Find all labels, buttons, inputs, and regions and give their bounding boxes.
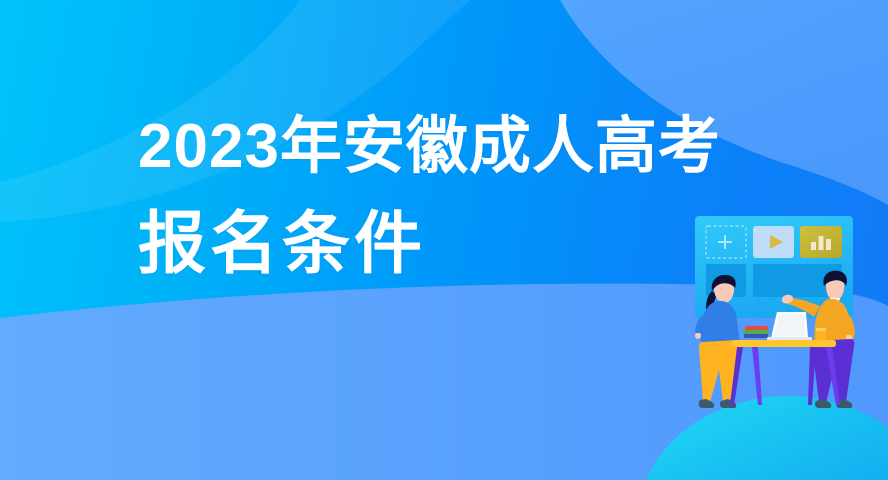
title-line-2: 报名条件	[138, 210, 721, 278]
title-line-1: 2023年安徽成人高考	[138, 116, 721, 178]
cup	[816, 328, 826, 341]
chart-tile	[800, 226, 842, 258]
desk-top	[732, 340, 836, 347]
video-tile	[753, 226, 794, 258]
banner-title: 2023年安徽成人高考 报名条件	[138, 116, 721, 278]
book-stack	[743, 326, 769, 338]
promo-banner: 2023年安徽成人高考 报名条件	[0, 0, 888, 480]
